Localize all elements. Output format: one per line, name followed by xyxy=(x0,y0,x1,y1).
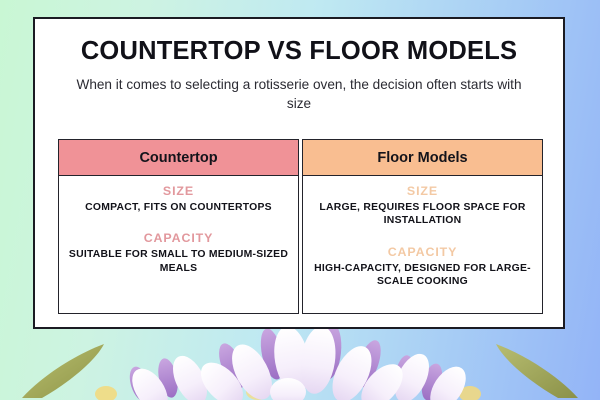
content-card: COUNTERTOP VS FLOOR MODELS When it comes… xyxy=(33,17,565,329)
column-body-floor-models: SIZE LARGE, REQUIRES FLOOR SPACE FOR INS… xyxy=(302,176,543,314)
table-column-floor-models: Floor Models SIZE LARGE, REQUIRES FLOOR … xyxy=(302,139,543,314)
attribute-value-size: COMPACT, FITS ON COUNTERTOPS xyxy=(79,201,278,214)
attribute-block-size: SIZE LARGE, REQUIRES FLOOR SPACE FOR INS… xyxy=(303,184,542,228)
attribute-block-capacity: CAPACITY SUITABLE FOR SMALL TO MEDIUM-SI… xyxy=(59,231,298,275)
attribute-label-capacity: CAPACITY xyxy=(59,231,298,245)
attribute-label-size: SIZE xyxy=(79,184,278,198)
attribute-label-capacity: CAPACITY xyxy=(303,245,542,259)
column-body-countertop: SIZE COMPACT, FITS ON COUNTERTOPS CAPACI… xyxy=(58,176,299,314)
attribute-value-capacity: SUITABLE FOR SMALL TO MEDIUM-SIZED MEALS xyxy=(59,248,298,275)
attribute-value-capacity: HIGH-CAPACITY, DESIGNED FOR LARGE-SCALE … xyxy=(303,262,542,289)
attribute-block-capacity: CAPACITY HIGH-CAPACITY, DESIGNED FOR LAR… xyxy=(303,245,542,289)
page-subtitle: When it comes to selecting a rotisserie … xyxy=(73,76,525,114)
attribute-value-size: LARGE, REQUIRES FLOOR SPACE FOR INSTALLA… xyxy=(303,201,542,228)
column-header-floor-models: Floor Models xyxy=(302,139,543,176)
attribute-block-size: SIZE COMPACT, FITS ON COUNTERTOPS xyxy=(79,184,278,214)
column-header-countertop: Countertop xyxy=(58,139,299,176)
attribute-label-size: SIZE xyxy=(303,184,542,198)
table-column-countertop: Countertop SIZE COMPACT, FITS ON COUNTER… xyxy=(58,139,299,314)
comparison-table: Countertop SIZE COMPACT, FITS ON COUNTER… xyxy=(58,139,544,314)
poster-canvas: COUNTERTOP VS FLOOR MODELS When it comes… xyxy=(0,0,600,400)
flower-illustration-icon xyxy=(0,320,600,400)
page-title: COUNTERTOP VS FLOOR MODELS xyxy=(35,37,563,65)
